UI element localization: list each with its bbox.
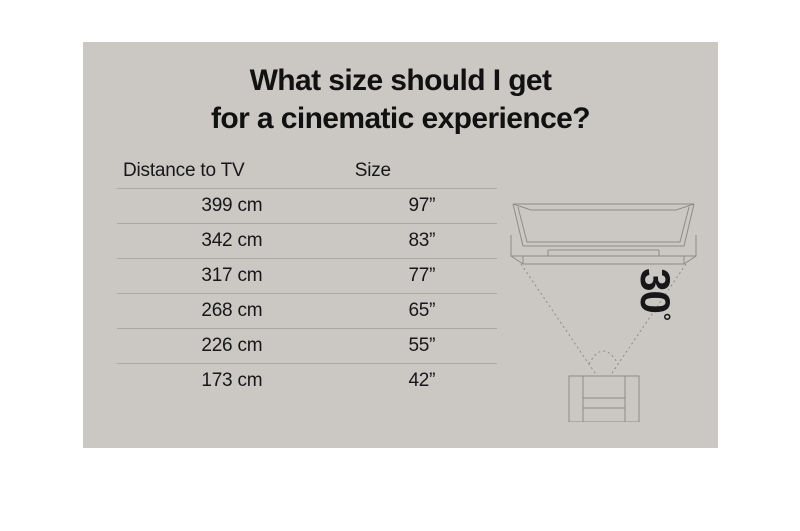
cell-distance: 173 cm [117,364,347,399]
table-body: 399 cm 97” 342 cm 83” 317 cm 77” 268 cm … [117,189,497,399]
tv-size-table: Distance to TV Size 399 cm 97” 342 cm 83… [117,154,497,398]
table-row: 268 cm 65” [117,294,497,329]
sofa-icon [569,376,639,422]
viewing-angle-value: 30 [632,268,679,313]
viewing-angle-label: 30° [631,268,679,320]
viewing-line-left [521,264,597,376]
tv-screen-inner [518,207,689,242]
table-header-row: Distance to TV Size [117,154,497,189]
cell-distance: 268 cm [117,294,347,329]
cell-size: 83” [347,224,497,259]
table-row: 226 cm 55” [117,329,497,364]
page-title: What size should I get for a cinematic e… [83,62,718,138]
tv-top-edge [513,204,694,210]
column-header-size: Size [347,154,497,189]
cell-distance: 342 cm [117,224,347,259]
tv-stand-icon [511,235,696,264]
degree-symbol-icon: ° [651,313,673,320]
page-title-line-1: What size should I get [83,62,718,100]
sofa-outline [569,376,639,422]
cell-distance: 399 cm [117,189,347,224]
infographic-card: What size should I get for a cinematic e… [83,42,718,448]
viewing-angle-diagram: 30° [501,152,706,422]
page-title-line-2: for a cinematic experience? [83,100,718,138]
cell-size: 97” [347,189,497,224]
table-row: 317 cm 77” [117,259,497,294]
screenshot-root: What size should I get for a cinematic e… [0,0,800,531]
table-row: 342 cm 83” [117,224,497,259]
viewing-angle-arc [589,351,618,364]
cell-size: 55” [347,329,497,364]
cell-size: 42” [347,364,497,399]
cell-distance: 226 cm [117,329,347,364]
column-header-distance: Distance to TV [117,154,347,189]
cell-distance: 317 cm [117,259,347,294]
cell-size: 77” [347,259,497,294]
cell-size: 65” [347,294,497,329]
table-row: 173 cm 42” [117,364,497,399]
table-header: Distance to TV Size [117,154,497,189]
tv-icon [513,204,694,246]
table-row: 399 cm 97” [117,189,497,224]
